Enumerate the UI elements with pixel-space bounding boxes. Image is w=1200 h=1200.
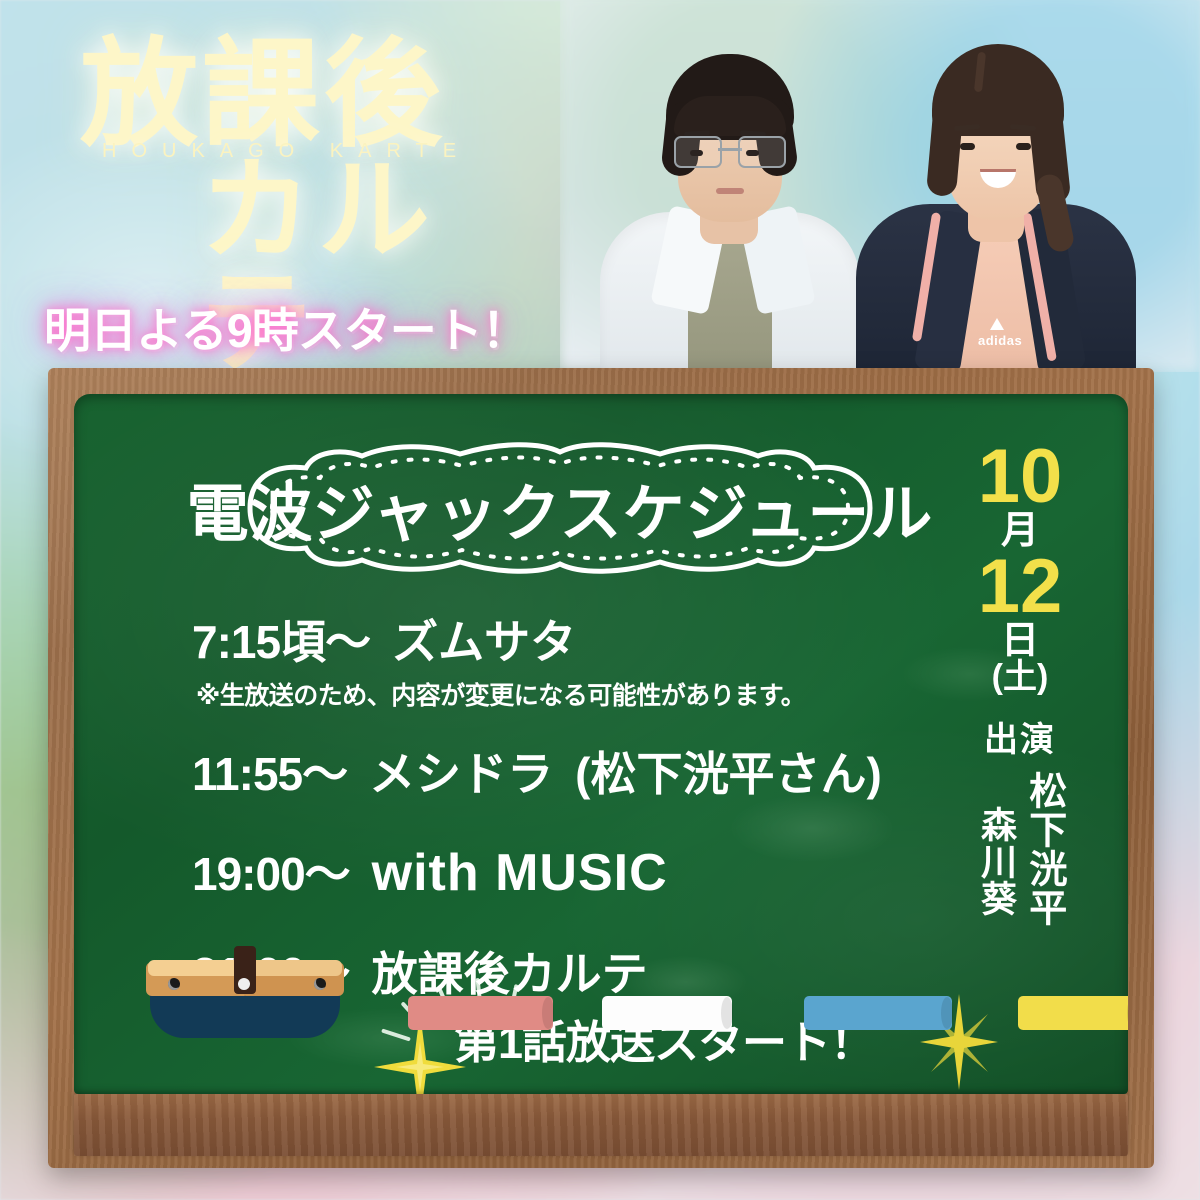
date-day-number: 12 <box>954 552 1086 622</box>
schedule-time: 7:15頃〜 <box>192 606 370 672</box>
date-weekday: (土) <box>954 660 1086 694</box>
schedule-time: 11:55〜 <box>192 738 347 804</box>
cast-name-secondary: 森川葵 <box>977 797 1014 927</box>
schedule-row: 11:55〜 メシドラ (松下洸平さん) <box>192 738 932 804</box>
date-day-unit: 日 <box>954 622 1086 662</box>
chalk-ledge <box>74 1094 1128 1156</box>
basket-top-right <box>246 960 342 976</box>
female-eye-left <box>960 143 975 150</box>
chalk-stick-blue <box>804 996 952 1030</box>
schedule-program: with MUSIC <box>372 843 668 903</box>
banner-title-text: 電波ジャックスケジュール <box>180 442 940 574</box>
schedule-row: 7:15頃〜 ズムサタ <box>192 606 932 672</box>
date-month-number: 10 <box>954 442 1086 512</box>
schedule-program-guest: (松下洸平さん) <box>575 738 882 804</box>
schedule-row: 19:00〜 with MUSIC <box>192 838 932 904</box>
actor-male-figure <box>600 12 860 372</box>
schedule-time: 19:00〜 <box>192 838 350 904</box>
adidas-logo: adidas <box>978 333 1022 348</box>
subtitle-start-time: 明日よる9時スタート！ <box>44 292 528 361</box>
schedule-program: メシドラ <box>369 738 553 804</box>
poster-root: adidas 放課後 HOUKAGO KARTE カルテ 明日よる9時スタート！… <box>0 0 1200 1200</box>
male-fringe <box>674 96 786 136</box>
schedule-program: ズムサタ <box>392 606 576 672</box>
male-eye-left <box>690 150 703 156</box>
blackboard-surface: 電波ジャックスケジュール <box>74 394 1128 1094</box>
banner-title-plate: 電波ジャックスケジュール <box>180 442 940 574</box>
chalk-stick-pink <box>408 996 553 1030</box>
title-line-1: 放課後 <box>80 38 550 154</box>
chalk-stick-white <box>602 996 732 1030</box>
basket-stud <box>238 978 250 990</box>
basket-stud <box>168 978 180 990</box>
male-eye-right <box>746 150 759 156</box>
date-cast-column: 10 月 12 日 (土) 出演 森川葵 松下洸平 <box>954 442 1086 927</box>
cast-photo: adidas <box>560 0 1200 372</box>
schedule-note: ※生放送のため、内容が変更になる可能性があります。 <box>196 676 932 712</box>
male-mouth <box>716 188 744 194</box>
basket-stud <box>314 978 326 990</box>
cast-name-group: 森川葵 松下洸平 <box>954 771 1086 927</box>
basket-top-left <box>148 960 244 976</box>
chalk-stick-yellow <box>1018 996 1128 1030</box>
female-eye-right <box>1016 143 1031 150</box>
cast-heading: 出演 <box>954 712 1086 761</box>
cast-name-primary: 松下洸平 <box>1024 771 1063 927</box>
basket-eraser-icon <box>146 946 344 1038</box>
blackboard-frame: 電波ジャックスケジュール <box>48 368 1154 1168</box>
schedule-program: 放課後カルテ <box>372 938 648 1004</box>
actor-female-figure: adidas <box>856 0 1136 372</box>
